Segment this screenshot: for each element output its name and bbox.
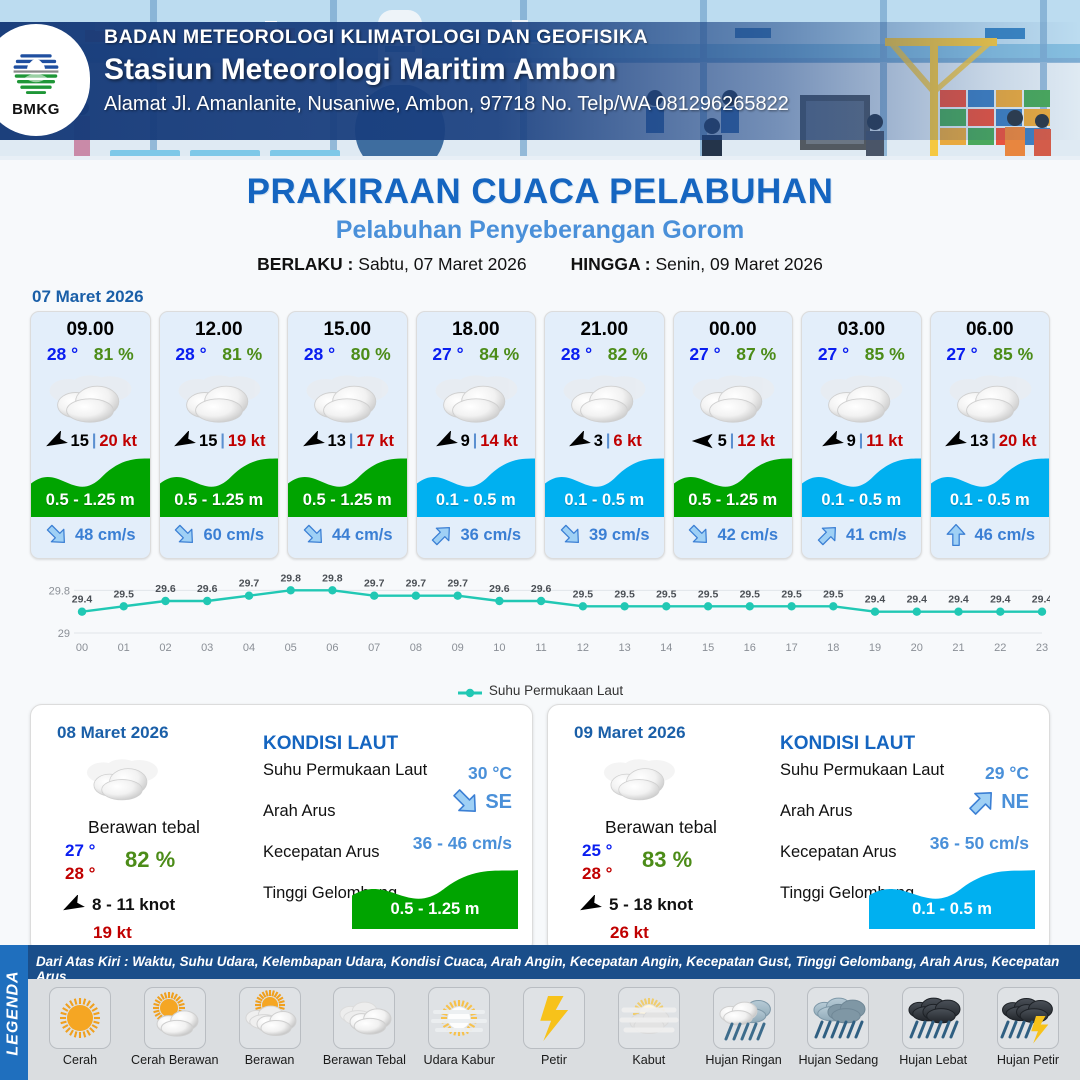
chart-legend: Suhu Permukaan Laut bbox=[0, 683, 1080, 698]
card-wind-speed: 5 bbox=[718, 432, 727, 451]
chart-xtick: 14 bbox=[660, 642, 672, 654]
card-wind: 9 | 11 kt bbox=[802, 429, 921, 455]
card-gust: 6 kt bbox=[613, 432, 641, 451]
day-gust: 26 kt bbox=[610, 923, 649, 943]
wave-height-graphic bbox=[352, 867, 518, 929]
card-time: 21.00 bbox=[545, 312, 664, 341]
chart-point-label: 29.5 bbox=[656, 588, 677, 600]
chart-point-label: 29.8 bbox=[322, 572, 343, 584]
legend-item-label: Hujan Lebat bbox=[889, 1054, 977, 1068]
card-temp-humidity: 27 ° 87 % bbox=[674, 341, 793, 365]
chart-point bbox=[996, 608, 1004, 616]
day-wind-speed: 8 - 11 knot bbox=[92, 895, 175, 915]
card-wave-height: 0.5 - 1.25 m bbox=[31, 491, 150, 510]
hourly-card: 12.00 28 ° 81 % 15 | 19 kt bbox=[159, 311, 280, 559]
chart-xtick: 17 bbox=[785, 642, 797, 654]
current-direction-icon bbox=[967, 787, 997, 817]
legend-side-label: LEGENDA bbox=[5, 970, 23, 1055]
card-temp-humidity: 27 ° 84 % bbox=[417, 341, 536, 365]
card-weather-icon bbox=[31, 365, 150, 429]
card-temp-humidity: 28 ° 82 % bbox=[545, 341, 664, 365]
chart-xtick: 13 bbox=[618, 642, 630, 654]
sun-icon bbox=[50, 988, 110, 1048]
chart-xtick: 01 bbox=[118, 642, 130, 654]
chart-point-label: 29.5 bbox=[781, 588, 802, 600]
chart-xtick: 06 bbox=[326, 642, 338, 654]
legend-item-label: Berawan Tebal bbox=[320, 1054, 408, 1068]
card-wind-speed: 9 bbox=[847, 432, 856, 451]
wind-direction-icon bbox=[61, 895, 85, 915]
chart-point bbox=[203, 597, 211, 605]
chart-point bbox=[120, 602, 128, 610]
chart-point-label: 29.5 bbox=[823, 588, 844, 600]
heavy-cloud-icon bbox=[334, 988, 394, 1048]
station-contact: Alamat Jl. Amanlanite, Nusaniwe, Ambon, … bbox=[104, 93, 1004, 116]
card-wind: 13 | 20 kt bbox=[931, 429, 1050, 455]
chart-point-label: 29.5 bbox=[573, 588, 594, 600]
day-humidity: 82 % bbox=[125, 847, 175, 873]
chart-point bbox=[412, 592, 420, 600]
legend-side-tab: LEGENDA bbox=[0, 945, 28, 1080]
legend-item-label: Udara Kabur bbox=[415, 1054, 503, 1068]
chart-xtick: 05 bbox=[285, 642, 297, 654]
chart-xtick: 03 bbox=[201, 642, 213, 654]
legend-item-label: Hujan Ringan bbox=[700, 1054, 788, 1068]
card-gust: 17 kt bbox=[356, 432, 394, 451]
agency-name: BADAN METEOROLOGI KLIMATOLOGI DAN GEOFIS… bbox=[104, 26, 1004, 49]
day-humidity: 83 % bbox=[642, 847, 692, 873]
header-divider bbox=[0, 156, 1080, 160]
chart-point-label: 29.5 bbox=[698, 588, 719, 600]
card-weather-icon bbox=[931, 365, 1050, 429]
card-gust: 12 kt bbox=[737, 432, 775, 451]
chart-xtick: 12 bbox=[577, 642, 589, 654]
wind-direction-icon bbox=[172, 431, 196, 451]
card-temp-humidity: 28 ° 81 % bbox=[160, 341, 279, 365]
current-direction-label: NE bbox=[1001, 791, 1029, 814]
chart-line bbox=[82, 590, 1042, 611]
day-wave-graphic bbox=[352, 867, 518, 929]
legend-icon-box bbox=[618, 987, 680, 1049]
chart-point-label: 29.6 bbox=[489, 583, 510, 595]
legend-icon-box bbox=[807, 987, 869, 1049]
legend-section: LEGENDA Dari Atas Kiri : Waktu, Suhu Uda… bbox=[0, 945, 1080, 1080]
legend-item: Udara Kabur bbox=[415, 987, 503, 1068]
berlaku-group: BERLAKU : Sabtu, 07 Maret 2026 bbox=[257, 254, 526, 275]
lightning-icon bbox=[524, 988, 584, 1048]
card-wind-speed: 13 bbox=[970, 432, 988, 451]
card-current-speed: 48 cm/s bbox=[75, 526, 136, 545]
chart-point-label: 29.8 bbox=[280, 572, 301, 584]
sea-conditions-title: KONDISI LAUT bbox=[263, 733, 398, 755]
chart-point bbox=[871, 608, 879, 616]
current-direction-icon bbox=[173, 523, 197, 547]
wave-height-graphic bbox=[869, 867, 1035, 929]
legend-icon-box bbox=[428, 987, 490, 1049]
day-wave-height: 0.1 - 0.5 m bbox=[869, 900, 1035, 919]
page-header: BMKG BADAN METEOROLOGI KLIMATOLOGI DAN G… bbox=[0, 0, 1080, 160]
chart-xtick: 23 bbox=[1036, 642, 1048, 654]
heavy-cloud-icon bbox=[945, 368, 1035, 426]
legend-icon-box bbox=[713, 987, 775, 1049]
current-direction-value: NE bbox=[967, 787, 1029, 817]
chart-point-label: 29.6 bbox=[155, 583, 176, 595]
current-direction-icon bbox=[451, 787, 481, 817]
card-temperature: 27 ° bbox=[432, 344, 463, 365]
chart-point bbox=[579, 602, 587, 610]
hourly-date-label: 07 Maret 2026 bbox=[32, 287, 1080, 307]
day-temp-max: 28 ° bbox=[65, 864, 95, 884]
wind-direction-icon bbox=[943, 431, 967, 451]
bmkg-emblem-icon bbox=[8, 43, 64, 99]
sst-chart-svg: 29.82929.40029.50129.60229.60329.70429.8… bbox=[30, 571, 1050, 679]
chart-point bbox=[704, 602, 712, 610]
heavy-cloud-icon bbox=[600, 753, 678, 803]
legend-item: Berawan bbox=[226, 987, 314, 1068]
card-wind-speed: 13 bbox=[328, 432, 346, 451]
card-current-speed: 36 cm/s bbox=[460, 526, 521, 545]
card-wave-height: 0.1 - 0.5 m bbox=[802, 491, 921, 510]
legend-icon-box bbox=[333, 987, 395, 1049]
card-current: 48 cm/s bbox=[31, 520, 150, 550]
chart-point-label: 29.7 bbox=[447, 578, 468, 590]
card-current-speed: 44 cm/s bbox=[332, 526, 393, 545]
fog-icon bbox=[619, 988, 679, 1048]
chart-point-label: 29.4 bbox=[1032, 594, 1050, 606]
day-weather-icon bbox=[600, 753, 678, 808]
day-wave-graphic bbox=[869, 867, 1035, 929]
chart-point bbox=[287, 586, 295, 594]
card-current-speed: 39 cm/s bbox=[589, 526, 650, 545]
chart-xtick: 07 bbox=[368, 642, 380, 654]
wind-direction-icon bbox=[301, 431, 325, 451]
card-gust: 11 kt bbox=[866, 432, 903, 451]
day-date: 08 Maret 2026 bbox=[57, 723, 169, 743]
chart-legend-label: Suhu Permukaan Laut bbox=[489, 683, 623, 698]
heavy-cloud-icon bbox=[559, 368, 649, 426]
legend-item: Cerah Berawan bbox=[131, 987, 219, 1068]
chart-xtick: 21 bbox=[952, 642, 964, 654]
card-time: 09.00 bbox=[31, 312, 150, 341]
day-wind: 8 - 11 knot bbox=[61, 895, 175, 915]
hingga-value: Senin, 09 Maret 2026 bbox=[656, 254, 823, 274]
chart-point bbox=[78, 608, 86, 616]
wind-direction-icon bbox=[691, 431, 715, 451]
light-rain-icon bbox=[714, 988, 774, 1048]
daily-forecast-card: 08 Maret 2026 Berawan tebal 27 ° 28 ° 82… bbox=[30, 704, 533, 954]
day-condition: Berawan tebal bbox=[49, 817, 239, 838]
legend-item-label: Cerah Berawan bbox=[131, 1054, 219, 1068]
chart-point bbox=[829, 602, 837, 610]
chart-xtick: 11 bbox=[535, 642, 546, 654]
card-temperature: 28 ° bbox=[175, 344, 206, 365]
hingga-group: HINGGA : Senin, 09 Maret 2026 bbox=[571, 254, 823, 275]
card-wave-height: 0.1 - 0.5 m bbox=[931, 491, 1050, 510]
hourly-card: 00.00 27 ° 87 % 5 | 12 kt bbox=[673, 311, 794, 559]
card-temp-humidity: 28 ° 81 % bbox=[31, 341, 150, 365]
chart-xtick: 02 bbox=[159, 642, 171, 654]
chart-point bbox=[245, 592, 253, 600]
legend-item: Hujan Ringan bbox=[700, 987, 788, 1068]
chart-xtick: 04 bbox=[243, 642, 255, 654]
card-temperature: 28 ° bbox=[47, 344, 78, 365]
chart-point bbox=[495, 597, 503, 605]
daily-forecast-card: 09 Maret 2026 Berawan tebal 25 ° 28 ° 83… bbox=[547, 704, 1050, 954]
sun-cloud-icon bbox=[145, 988, 205, 1048]
wind-direction-icon bbox=[567, 431, 591, 451]
legend-item-label: Hujan Sedang bbox=[794, 1054, 882, 1068]
card-humidity: 85 % bbox=[993, 344, 1033, 365]
card-gust: 20 kt bbox=[99, 432, 137, 451]
card-humidity: 81 % bbox=[222, 344, 262, 365]
legend-icon-box bbox=[997, 987, 1059, 1049]
legend-item: Petir bbox=[510, 987, 598, 1068]
card-wind-separator: | bbox=[349, 432, 353, 450]
card-time: 12.00 bbox=[160, 312, 279, 341]
card-time: 00.00 bbox=[674, 312, 793, 341]
chart-point-label: 29.5 bbox=[113, 588, 134, 600]
card-humidity: 81 % bbox=[94, 344, 134, 365]
moderate-rain-icon bbox=[808, 988, 868, 1048]
chart-point-label: 29.4 bbox=[72, 594, 93, 606]
card-wind-separator: | bbox=[991, 432, 995, 450]
heavy-cloud-icon bbox=[302, 368, 392, 426]
day-date: 09 Maret 2026 bbox=[574, 723, 686, 743]
card-wind: 9 | 14 kt bbox=[417, 429, 536, 455]
card-weather-icon bbox=[160, 365, 279, 429]
day-temp-min: 25 ° bbox=[582, 841, 612, 861]
card-temperature: 28 ° bbox=[561, 344, 592, 365]
berlaku-label: BERLAKU : bbox=[257, 254, 353, 274]
wind-direction-icon bbox=[578, 895, 602, 915]
chart-point bbox=[454, 592, 462, 600]
chart-xtick: 08 bbox=[410, 642, 422, 654]
card-current: 46 cm/s bbox=[931, 520, 1050, 550]
chart-point bbox=[161, 597, 169, 605]
card-wave-height: 0.1 - 0.5 m bbox=[545, 491, 664, 510]
card-temp-humidity: 27 ° 85 % bbox=[802, 341, 921, 365]
validity-row: BERLAKU : Sabtu, 07 Maret 2026 HINGGA : … bbox=[0, 254, 1080, 275]
wind-direction-icon bbox=[44, 431, 68, 451]
daily-forecast-row: 08 Maret 2026 Berawan tebal 27 ° 28 ° 82… bbox=[0, 698, 1080, 954]
card-time: 15.00 bbox=[288, 312, 407, 341]
card-current: 41 cm/s bbox=[802, 520, 921, 550]
bmkg-logo-text: BMKG bbox=[12, 101, 60, 118]
legend-icon-box bbox=[523, 987, 585, 1049]
chart-point bbox=[328, 586, 336, 594]
chart-point bbox=[370, 592, 378, 600]
card-temperature: 27 ° bbox=[689, 344, 720, 365]
hourly-card: 18.00 27 ° 84 % 9 | 14 kt bbox=[416, 311, 537, 559]
card-wind: 3 | 6 kt bbox=[545, 429, 664, 455]
wind-direction-icon bbox=[434, 431, 458, 451]
haze-icon bbox=[429, 988, 489, 1048]
legend-icon-box bbox=[239, 987, 301, 1049]
card-temp-humidity: 27 ° 85 % bbox=[931, 341, 1050, 365]
legend-item: Hujan Sedang bbox=[794, 987, 882, 1068]
hingga-label: HINGGA : bbox=[571, 254, 651, 274]
hourly-forecast-row: 09.00 28 ° 81 % 15 | 20 kt bbox=[0, 311, 1080, 559]
chart-point-label: 29.4 bbox=[865, 594, 886, 606]
chart-point-label: 29.6 bbox=[531, 583, 552, 595]
day-weather-icon bbox=[83, 753, 161, 808]
chart-ytick: 29 bbox=[58, 628, 70, 640]
chart-point-label: 29.4 bbox=[990, 594, 1011, 606]
card-gust: 20 kt bbox=[999, 432, 1037, 451]
hourly-card: 09.00 28 ° 81 % 15 | 20 kt bbox=[30, 311, 151, 559]
card-time: 03.00 bbox=[802, 312, 921, 341]
card-current-speed: 42 cm/s bbox=[717, 526, 778, 545]
sea-surface-temp-value: 29 °C bbox=[985, 763, 1029, 784]
card-weather-icon bbox=[288, 365, 407, 429]
day-wind-speed: 5 - 18 knot bbox=[609, 895, 693, 915]
chart-xtick: 22 bbox=[994, 642, 1006, 654]
current-direction-icon bbox=[687, 523, 711, 547]
sst-chart: 29.82929.40029.50129.60229.60329.70429.8… bbox=[0, 571, 1080, 681]
chart-point bbox=[1038, 608, 1046, 616]
legend-item: Hujan Petir bbox=[984, 987, 1072, 1068]
cloud-sun-icon bbox=[240, 988, 300, 1048]
card-wind-speed: 3 bbox=[594, 432, 603, 451]
legend-icon-box bbox=[49, 987, 111, 1049]
card-temperature: 27 ° bbox=[946, 344, 977, 365]
chart-xtick: 10 bbox=[493, 642, 505, 654]
chart-point bbox=[537, 597, 545, 605]
legend-item: Kabut bbox=[605, 987, 693, 1068]
chart-legend-swatch bbox=[457, 686, 483, 696]
card-gust: 19 kt bbox=[228, 432, 266, 451]
day-temp-min: 27 ° bbox=[65, 841, 95, 861]
card-wind-separator: | bbox=[730, 432, 734, 450]
heavy-cloud-icon bbox=[816, 368, 906, 426]
card-wind-separator: | bbox=[92, 432, 96, 450]
chart-point-label: 29.5 bbox=[740, 588, 761, 600]
chart-ytick: 29.8 bbox=[49, 585, 70, 597]
current-direction-value: SE bbox=[451, 787, 512, 817]
chart-point-label: 29.6 bbox=[197, 583, 218, 595]
day-gust: 19 kt bbox=[93, 923, 132, 943]
card-wind: 13 | 17 kt bbox=[288, 429, 407, 455]
card-wind-separator: | bbox=[859, 432, 863, 450]
card-time: 18.00 bbox=[417, 312, 536, 341]
thunderstorm-icon bbox=[998, 988, 1058, 1048]
hourly-card: 21.00 28 ° 82 % 3 | 6 kt bbox=[544, 311, 665, 559]
chart-point bbox=[787, 602, 795, 610]
card-wind: 15 | 19 kt bbox=[160, 429, 279, 455]
wind-direction-icon bbox=[820, 431, 844, 451]
day-condition: Berawan tebal bbox=[566, 817, 756, 838]
current-direction-label: SE bbox=[485, 791, 512, 814]
card-current: 60 cm/s bbox=[160, 520, 279, 550]
legend-item: Berawan Tebal bbox=[320, 987, 408, 1068]
card-weather-icon bbox=[417, 365, 536, 429]
card-temperature: 27 ° bbox=[818, 344, 849, 365]
card-current-speed: 46 cm/s bbox=[974, 526, 1035, 545]
current-speed-value: 36 - 46 cm/s bbox=[413, 833, 512, 854]
card-humidity: 84 % bbox=[479, 344, 519, 365]
card-current: 39 cm/s bbox=[545, 520, 664, 550]
day-temp-max: 28 ° bbox=[582, 864, 612, 884]
chart-xtick: 16 bbox=[744, 642, 756, 654]
card-time: 06.00 bbox=[931, 312, 1050, 341]
card-wind-speed: 9 bbox=[461, 432, 470, 451]
current-direction-icon bbox=[430, 523, 454, 547]
chart-point bbox=[913, 608, 921, 616]
card-wind-speed: 15 bbox=[71, 432, 89, 451]
legend-item: Hujan Lebat bbox=[889, 987, 977, 1068]
card-wind: 5 | 12 kt bbox=[674, 429, 793, 455]
chart-xtick: 19 bbox=[869, 642, 881, 654]
legend-item: Cerah bbox=[36, 987, 124, 1068]
page-subtitle: Pelabuhan Penyeberangan Gorom bbox=[0, 216, 1080, 245]
chart-point bbox=[620, 602, 628, 610]
heavy-rain-icon bbox=[903, 988, 963, 1048]
heavy-cloud-icon bbox=[688, 368, 778, 426]
card-current: 42 cm/s bbox=[674, 520, 793, 550]
heavy-cloud-icon bbox=[83, 753, 161, 803]
header-text-block: BADAN METEOROLOGI KLIMATOLOGI DAN GEOFIS… bbox=[104, 26, 1004, 116]
card-humidity: 80 % bbox=[351, 344, 391, 365]
card-wave-height: 0.1 - 0.5 m bbox=[417, 491, 536, 510]
current-direction-icon bbox=[559, 523, 583, 547]
chart-point-label: 29.7 bbox=[406, 578, 427, 590]
legend-icon-box bbox=[144, 987, 206, 1049]
current-speed-value: 36 - 50 cm/s bbox=[930, 833, 1029, 854]
chart-xtick: 09 bbox=[452, 642, 464, 654]
chart-xtick: 20 bbox=[911, 642, 923, 654]
card-current: 36 cm/s bbox=[417, 520, 536, 550]
card-current-speed: 60 cm/s bbox=[203, 526, 264, 545]
card-wind-separator: | bbox=[606, 432, 610, 450]
card-wind: 15 | 20 kt bbox=[31, 429, 150, 455]
day-wave-height: 0.5 - 1.25 m bbox=[352, 900, 518, 919]
legend-item-label: Berawan bbox=[226, 1054, 314, 1068]
legend-item-label: Petir bbox=[510, 1054, 598, 1068]
card-humidity: 87 % bbox=[736, 344, 776, 365]
card-wave-height: 0.5 - 1.25 m bbox=[674, 491, 793, 510]
day-temps: 27 ° 28 ° bbox=[65, 841, 95, 884]
card-humidity: 85 % bbox=[865, 344, 905, 365]
day-wind: 5 - 18 knot bbox=[578, 895, 693, 915]
card-wind-separator: | bbox=[220, 432, 224, 450]
card-weather-icon bbox=[802, 365, 921, 429]
chart-point-label: 29.5 bbox=[614, 588, 635, 600]
card-wave-height: 0.5 - 1.25 m bbox=[288, 491, 407, 510]
berlaku-value: Sabtu, 07 Maret 2026 bbox=[358, 254, 526, 274]
page-title: PRAKIRAAN CUACA PELABUHAN bbox=[0, 172, 1080, 212]
card-current-speed: 41 cm/s bbox=[846, 526, 907, 545]
chart-point-label: 29.7 bbox=[239, 578, 260, 590]
card-temperature: 28 ° bbox=[304, 344, 335, 365]
hourly-card: 15.00 28 ° 80 % 13 | 17 kt bbox=[287, 311, 408, 559]
sea-surface-temp-value: 30 °C bbox=[468, 763, 512, 784]
card-wind-separator: | bbox=[473, 432, 477, 450]
legend-item-label: Kabut bbox=[605, 1054, 693, 1068]
card-weather-icon bbox=[545, 365, 664, 429]
hourly-card: 06.00 27 ° 85 % 13 | 20 kt bbox=[930, 311, 1051, 559]
chart-point-label: 29.4 bbox=[907, 594, 928, 606]
chart-point bbox=[954, 608, 962, 616]
hourly-card: 03.00 27 ° 85 % 9 | 11 kt bbox=[801, 311, 922, 559]
card-wave-height: 0.5 - 1.25 m bbox=[160, 491, 279, 510]
card-humidity: 82 % bbox=[608, 344, 648, 365]
title-section: PRAKIRAAN CUACA PELABUHAN Pelabuhan Peny… bbox=[0, 160, 1080, 275]
current-direction-icon bbox=[45, 523, 69, 547]
current-direction-icon bbox=[302, 523, 326, 547]
station-name: Stasiun Meteorologi Maritim Ambon bbox=[104, 53, 1004, 87]
chart-point bbox=[746, 602, 754, 610]
chart-xtick: 18 bbox=[827, 642, 839, 654]
